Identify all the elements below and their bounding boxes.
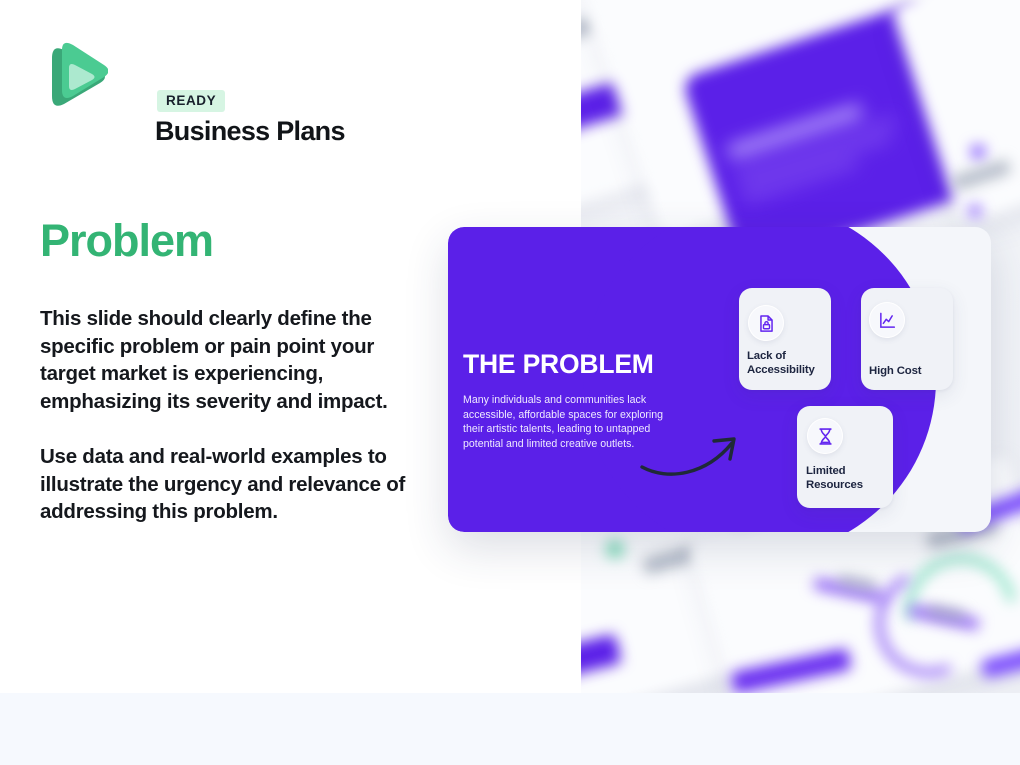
ready-badge: READY <box>157 90 225 112</box>
slide-preview-page: READY Business Plans Problem This slide … <box>0 0 1020 765</box>
brand-header: READY Business Plans <box>40 38 370 120</box>
line-chart-icon <box>869 302 905 338</box>
feature-card-limited-resources-label: Limited Resources <box>806 464 896 492</box>
body-paragraph-2: Use data and real-world examples to illu… <box>40 443 432 526</box>
body-paragraph-1: This slide should clearly define the spe… <box>40 305 432 415</box>
brand-name: Business Plans <box>155 116 345 147</box>
hourglass-icon <box>807 418 843 454</box>
body-copy: This slide should clearly define the spe… <box>40 305 432 526</box>
play-triangle-logo-icon <box>40 38 108 116</box>
slide-heading: THE PROBLEM <box>463 349 654 380</box>
curved-arrow-icon <box>640 425 750 487</box>
bg-dot-purple-2 <box>969 205 989 225</box>
page-title: Problem <box>40 215 213 267</box>
document-lock-icon <box>748 305 784 341</box>
feature-card-limited-resources[interactable] <box>797 406 893 508</box>
bg-dot-green-1 <box>606 540 630 564</box>
bottom-strip <box>0 693 1020 765</box>
feature-card-high-cost-label: High Cost <box>869 364 955 378</box>
feature-card-accessibility-label: Lack of Accessibility <box>747 349 833 377</box>
bg-dot-purple-1 <box>971 145 991 165</box>
